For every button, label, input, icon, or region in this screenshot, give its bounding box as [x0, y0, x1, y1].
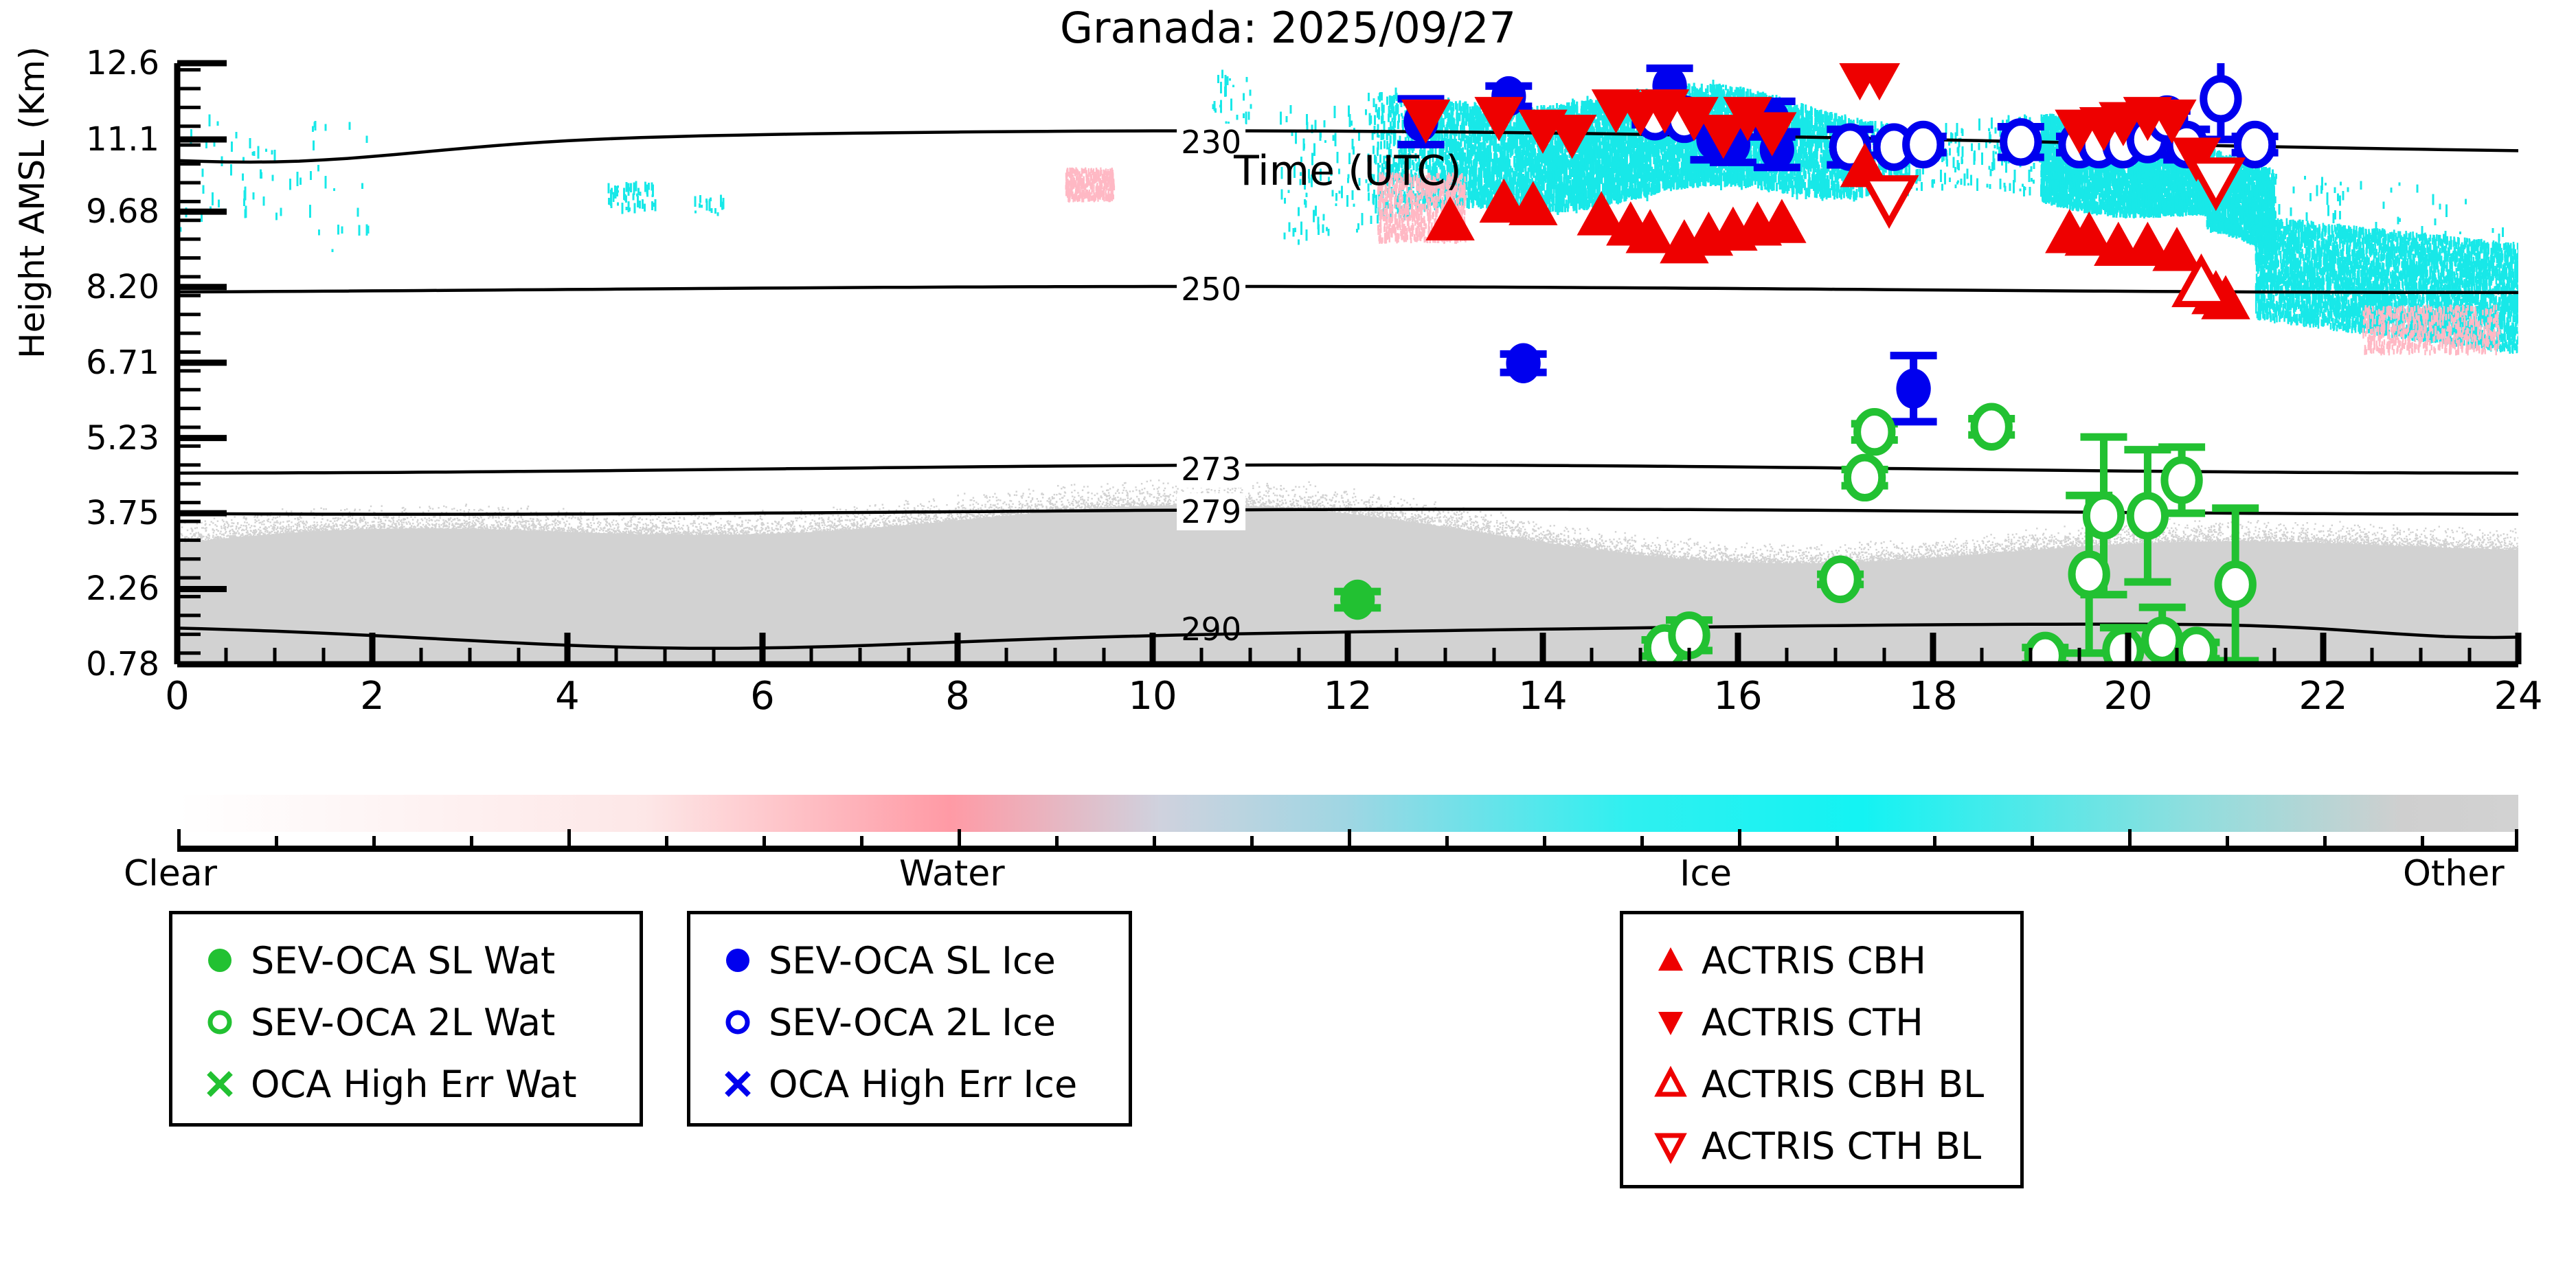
legend-item-label: SEV-OCA 2L Ice [769, 1001, 1056, 1044]
legend-symbol [708, 938, 767, 983]
x-tick-label: 0 [165, 674, 190, 719]
triangle-up-open-icon [1648, 1061, 1693, 1107]
legend-item[interactable]: ACTRIS CTH [1623, 991, 2020, 1053]
x-tick-label: 2 [360, 674, 385, 719]
open-circle-icon [715, 999, 760, 1045]
legend-symbol [1641, 1061, 1700, 1107]
legend-item[interactable]: SEV-OCA 2L Wat [172, 991, 640, 1053]
colorbar-label: Water [899, 853, 1005, 894]
legend-symbol [190, 999, 249, 1045]
legend-item[interactable]: OCA High Err Wat [172, 1053, 640, 1115]
colorbar-tick [1055, 836, 1059, 847]
colorbar-tick [177, 829, 181, 847]
isotherm-label: 279 [1177, 493, 1245, 530]
legend-item[interactable]: SEV-OCA SL Ice [690, 929, 1129, 991]
y-tick-label: 12.6 [86, 44, 159, 82]
isotherm-label: 250 [1177, 271, 1245, 308]
colorbar-tick [860, 836, 863, 847]
x-tick-label: 14 [1518, 674, 1567, 719]
x-tick-label: 22 [2298, 674, 2347, 719]
y-tick-label: 11.1 [86, 120, 159, 159]
chart-canvas: Granada: 2025/09/27 12.611.19.688.206.71… [0, 0, 2576, 1288]
colorbar-tick [2515, 829, 2518, 847]
colorbar-tick [665, 836, 668, 847]
colorbar-tick [1640, 836, 1644, 847]
colorbar-ticks [177, 832, 2518, 850]
colorbar-label: Ice [1680, 853, 1732, 894]
legend-item-label: SEV-OCA SL Ice [769, 939, 1056, 982]
colorbar-tick [1738, 829, 1741, 847]
y-tick-label: 9.68 [86, 192, 159, 231]
x-tick-label: 12 [1323, 674, 1372, 719]
legend-symbol [1641, 999, 1700, 1045]
x-axis-title: Time (UTC) [177, 147, 2518, 195]
colorbar-tick [470, 836, 473, 847]
ice-legend: SEV-OCA SL IceSEV-OCA 2L IceOCA High Err… [687, 911, 1132, 1127]
legend-item-label: OCA High Err Wat [251, 1063, 577, 1106]
legend-item-label: ACTRIS CTH BL [1702, 1125, 1981, 1168]
x-tick-label: 6 [750, 674, 775, 719]
y-tick-label: 2.26 [86, 569, 159, 608]
filled-circle-icon [715, 938, 760, 983]
legend-symbol [1641, 1123, 1700, 1168]
y-tick-label: 3.75 [86, 494, 159, 532]
legend-symbol [708, 999, 767, 1045]
legend-item-label: SEV-OCA 2L Wat [251, 1001, 555, 1044]
colorbar-tick [2226, 836, 2229, 847]
legend-symbol [190, 938, 249, 983]
legend-item-label: OCA High Err Ice [769, 1063, 1077, 1106]
x-tick-label: 24 [2494, 674, 2542, 719]
x-tick-label: 4 [555, 674, 580, 719]
triangle-down-icon [1648, 999, 1693, 1045]
x-tick-label: 18 [1908, 674, 1957, 719]
colorbar-tick [2031, 836, 2034, 847]
plot-area: 12.611.19.688.206.715.233.752.260.78 024… [177, 63, 2518, 664]
legend-item[interactable]: SEV-OCA 2L Ice [690, 991, 1129, 1053]
colorbar-tick [2323, 836, 2327, 847]
legend-item-label: ACTRIS CTH [1702, 1001, 1923, 1044]
x-tick-label: 16 [1713, 674, 1762, 719]
colorbar-tick [958, 829, 961, 847]
colorbar-tick [1348, 829, 1351, 847]
colorbar-tick [1153, 836, 1156, 847]
x-tick-label: 20 [2103, 674, 2152, 719]
legend-symbol [1641, 938, 1700, 983]
colorbar-tick [1933, 836, 1936, 847]
x-tick-label: 10 [1128, 674, 1177, 719]
colorbar-tick [567, 829, 571, 847]
y-tick-label: 6.71 [86, 343, 159, 382]
colorbar-gradient [177, 795, 2518, 832]
water-legend: SEV-OCA SL WatSEV-OCA 2L WatOCA High Err… [169, 911, 643, 1127]
legend-item[interactable]: OCA High Err Ice [690, 1053, 1129, 1115]
isotherm-label: 290 [1177, 611, 1245, 648]
y-axis-title: Height AMSL (Km) [12, 46, 52, 359]
chart-title: Granada: 2025/09/27 [0, 3, 2576, 53]
triangle-down-open-icon [1648, 1123, 1693, 1168]
legend-item-label: SEV-OCA SL Wat [251, 939, 555, 982]
isotherm-label: 273 [1177, 451, 1245, 488]
colorbar-tick [372, 836, 376, 847]
colorbar-tick [1250, 836, 1254, 847]
legend-symbol [190, 1061, 249, 1107]
legend-item[interactable]: SEV-OCA SL Wat [172, 929, 640, 991]
actris-legend: ACTRIS CBHACTRIS CTHACTRIS CBH BLACTRIS … [1620, 911, 2024, 1188]
legend-item[interactable]: ACTRIS CBH [1623, 929, 2020, 991]
colorbar-label: Clear [124, 853, 217, 894]
colorbar-label: Other [2403, 853, 2505, 894]
colorbar-tick [1835, 836, 1839, 847]
colorbar-tick [1543, 836, 1546, 847]
legend-item[interactable]: ACTRIS CBH BL [1623, 1053, 2020, 1115]
triangle-up-icon [1648, 938, 1693, 983]
y-tick-label: 8.20 [86, 268, 159, 306]
cross-icon [715, 1061, 760, 1107]
legend-item-label: ACTRIS CBH [1702, 939, 1926, 982]
y-tick-label: 5.23 [86, 419, 159, 457]
colorbar-tick [275, 836, 278, 847]
colorbar-tick [2128, 829, 2132, 847]
filled-circle-icon [197, 938, 242, 983]
legend-item[interactable]: ACTRIS CTH BL [1623, 1115, 2020, 1177]
colorbar-tick [2421, 836, 2424, 847]
cross-icon [197, 1061, 242, 1107]
legend-item-label: ACTRIS CBH BL [1702, 1063, 1984, 1106]
y-tick-label: 0.78 [86, 645, 159, 683]
colorbar-tick [1445, 836, 1449, 847]
legend-symbol [708, 1061, 767, 1107]
colorbar-tick [762, 836, 766, 847]
x-tick-label: 8 [945, 674, 970, 719]
open-circle-icon [197, 999, 242, 1045]
